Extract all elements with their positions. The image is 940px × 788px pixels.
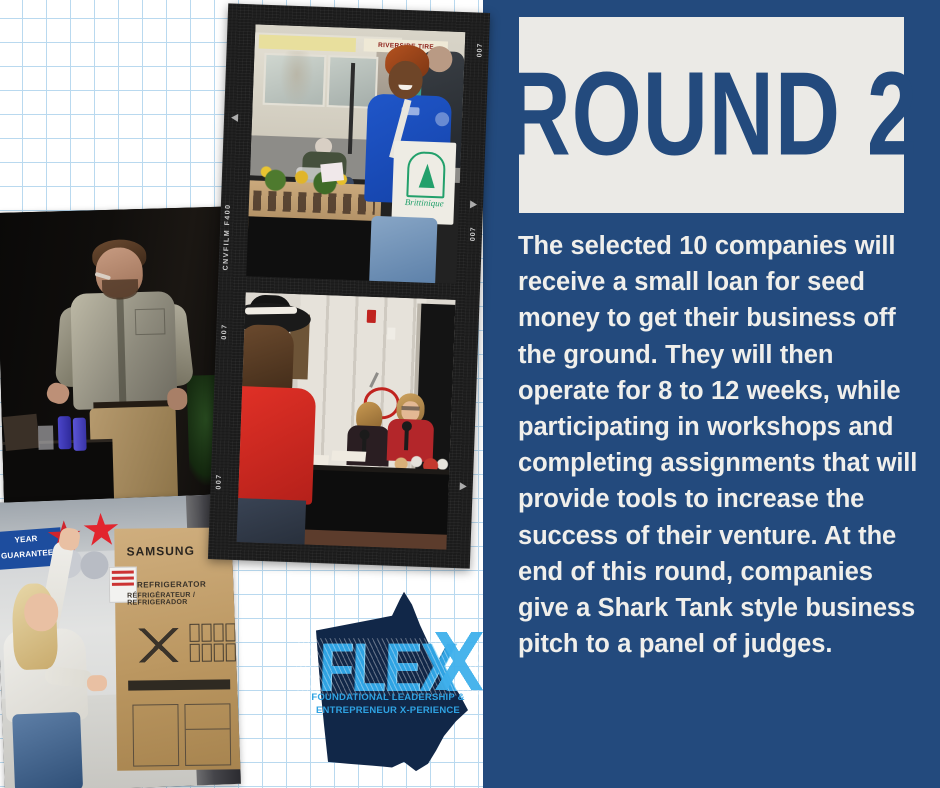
box-brand-label: SAMSUNG bbox=[126, 544, 195, 559]
flex-logo: FLEX FOUNDATIONAL LEADERSHIP & ENTREPREN… bbox=[288, 588, 488, 773]
canvas-tote-bag: Brittinique bbox=[392, 141, 457, 225]
body-paragraph: The selected 10 companies will receive a… bbox=[518, 228, 918, 662]
box-front-arrows-icon bbox=[137, 628, 179, 663]
film-triangle-marker-icon-2 bbox=[470, 200, 477, 208]
pitching-student bbox=[237, 302, 330, 545]
store-refrigerator-photo: YEAR GUARANTEE SAMSUNG REFRIGERATOR RÉFR… bbox=[0, 494, 241, 788]
film-triangle-marker-icon bbox=[231, 114, 238, 122]
vendor-sign-card bbox=[321, 162, 345, 182]
fire-alarm-icon bbox=[366, 309, 375, 322]
bare-tree bbox=[278, 50, 316, 109]
vendor-face bbox=[388, 60, 423, 99]
vendor-woman: Brittinique bbox=[355, 43, 464, 283]
blue-can-2 bbox=[73, 418, 87, 451]
flex-x-slash-icon bbox=[428, 632, 490, 690]
market-vendor-photo: RIVERSIDE TIRE bbox=[246, 24, 465, 284]
stage-speaker-photo bbox=[0, 207, 236, 513]
page-title: ROUND 2 bbox=[505, 54, 918, 172]
judge-nameplate-2 bbox=[332, 451, 367, 462]
film-frame-number-1: 007 bbox=[221, 323, 229, 339]
display-board bbox=[3, 414, 40, 451]
tote-tree-graphic bbox=[419, 164, 436, 189]
flex-tagline: FOUNDATIONAL LEADERSHIP & ENTREPRENEUR X… bbox=[288, 692, 488, 718]
film-stock-code: CNVFILM F400 bbox=[222, 203, 231, 270]
film-frame-number-3: 007 bbox=[476, 43, 484, 58]
flex-tagline-line2: ENTREPRENEUR X-PERIENCE bbox=[288, 705, 488, 718]
title-card: ROUND 2 bbox=[519, 17, 904, 213]
vendor-jeans bbox=[369, 216, 438, 284]
poster-canvas: ROUND 2 The selected 10 companies will r… bbox=[0, 0, 940, 788]
cowboy-hat-band bbox=[245, 307, 297, 315]
box-diagram-1 bbox=[132, 704, 179, 767]
film-triangle-marker-icon-3 bbox=[460, 482, 467, 490]
box-warning-strip bbox=[128, 679, 230, 690]
box-diagram-2 bbox=[184, 703, 231, 766]
student-red-shirt bbox=[237, 386, 316, 505]
box-handling-icons bbox=[189, 623, 235, 664]
flex-tagline-line1: FOUNDATIONAL LEADERSHIP & bbox=[288, 692, 488, 705]
box-product-line2: RÉFRIGÉRATEUR / REFRIGERADOR bbox=[127, 591, 241, 606]
film-frame-number-4: 007 bbox=[470, 226, 478, 241]
glass-item bbox=[38, 425, 54, 449]
light-switch-plate bbox=[387, 327, 395, 339]
shopper-jeans bbox=[12, 712, 83, 788]
pitch-judges-photo bbox=[237, 292, 456, 550]
box-product-line1: REFRIGERATOR bbox=[137, 580, 206, 590]
speaker-shirt-pocket bbox=[135, 308, 166, 335]
speaker-right-hand bbox=[167, 388, 188, 411]
student-jeans bbox=[237, 498, 306, 550]
tote-brand-text: Brittinique bbox=[400, 197, 448, 209]
shopper-lower-hand bbox=[87, 675, 108, 692]
refrigerator-box: SAMSUNG REFRIGERATOR RÉFRIGÉRATEUR / REF… bbox=[114, 527, 241, 771]
film-strip: CNVFILM F400 007 007 007 007 RIVERSIDE T… bbox=[208, 3, 490, 568]
blue-can-1 bbox=[58, 416, 72, 449]
film-frame-number-2: 007 bbox=[215, 473, 223, 489]
